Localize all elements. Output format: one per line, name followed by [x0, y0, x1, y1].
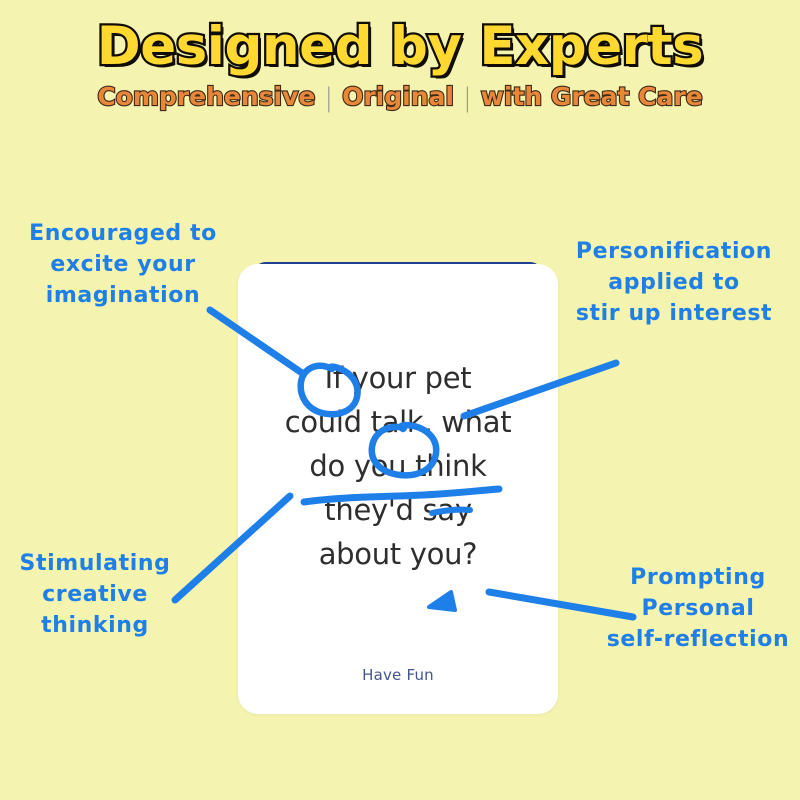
annotation-imagination-line-3: imagination — [8, 280, 238, 311]
poster-header: Designed by Experts Comprehensive|Origin… — [0, 0, 800, 112]
annotation-personification-line-1: Personification — [548, 236, 800, 267]
annotation-reflection-line-2: Personal — [596, 593, 800, 624]
annotation-personification: Personification applied to stir up inter… — [548, 236, 800, 330]
page-title: Designed by Experts — [0, 0, 800, 75]
annotation-reflection-line-1: Prompting — [596, 562, 800, 593]
subtitle-part-original: Original — [342, 82, 454, 111]
subtitle-separator-1: | — [315, 83, 342, 113]
annotation-self-reflection: Prompting Personal self-reflection — [596, 562, 800, 656]
question-line-5: about you? — [252, 532, 544, 576]
question-line-2: could talk, what — [252, 400, 544, 444]
annotation-creative-line-2: creative — [0, 579, 190, 610]
question-line-3: do you think — [252, 444, 544, 488]
annotation-imagination-line-1: Encouraged to — [8, 218, 238, 249]
question-card-stack: If your pet could talk, what do you thin… — [238, 258, 558, 718]
poster-canvas: Designed by Experts Comprehensive|Origin… — [0, 0, 800, 800]
annotation-imagination-line-2: excite your — [8, 249, 238, 280]
subtitle-part-comprehensive: Comprehensive — [97, 82, 315, 111]
subtitle-separator-2: | — [454, 83, 481, 113]
annotation-reflection-line-3: self-reflection — [596, 624, 800, 655]
poster-subtitle: Comprehensive|Original|with Great Care — [0, 75, 800, 112]
annotation-personification-line-3: stir up interest — [548, 298, 800, 329]
annotation-creative-thinking: Stimulating creative thinking — [0, 548, 190, 642]
annotation-creative-line-1: Stimulating — [0, 548, 190, 579]
annotation-personification-line-2: applied to — [548, 267, 800, 298]
question-card[interactable]: If your pet could talk, what do you thin… — [238, 264, 558, 714]
annotation-creative-line-3: thinking — [0, 610, 190, 641]
subtitle-part-great-care: with Great Care — [481, 82, 703, 111]
annotation-imagination: Encouraged to excite your imagination — [8, 218, 238, 312]
card-question-text: If your pet could talk, what do you thin… — [252, 356, 544, 576]
card-footer-label: Have Fun — [238, 666, 558, 684]
question-line-4: they'd say — [252, 488, 544, 532]
question-line-1: If your pet — [252, 356, 544, 400]
